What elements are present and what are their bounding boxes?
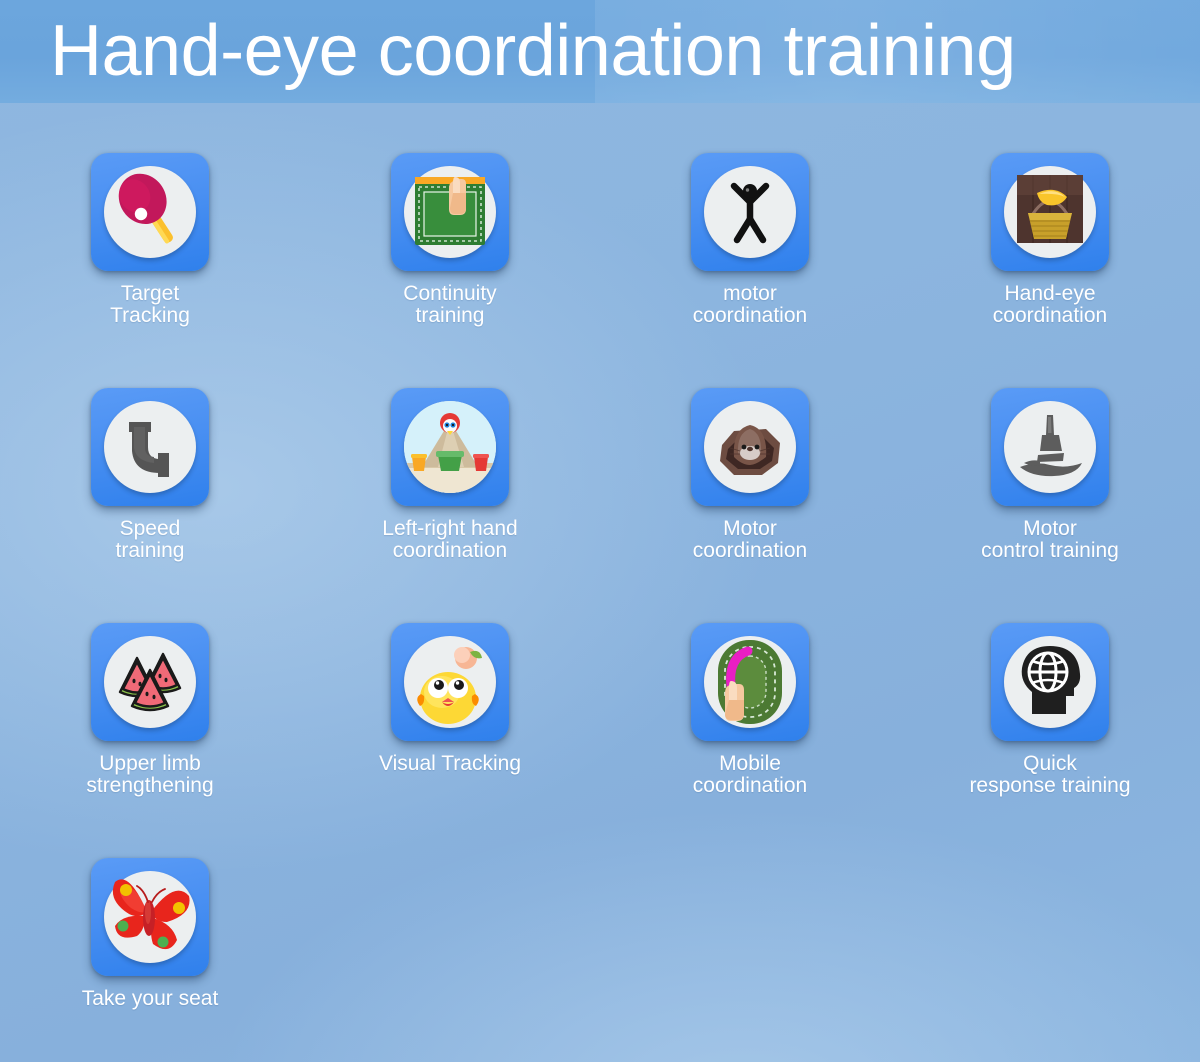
grid-empty-cell: [300, 808, 600, 1043]
app-label: Motor coordination: [602, 518, 898, 561]
app-tile[interactable]: [91, 623, 209, 741]
app-item-mobile-coordination[interactable]: Mobile coordination: [600, 573, 900, 808]
app-item-quick-response-training[interactable]: Quick response training: [900, 573, 1200, 808]
app-item-motor-control-training[interactable]: Motor control training: [900, 338, 1200, 573]
app-label: Mobile coordination: [602, 753, 898, 796]
app-label: motor coordination: [602, 283, 898, 326]
chalkboard-tracing-hand-icon: [409, 169, 491, 253]
app-label: Take your seat: [2, 988, 298, 1010]
watermelon-slices-icon: [104, 636, 196, 728]
oval-maze-finger-icon: [704, 636, 796, 728]
app-item-upper-limb-strengthening[interactable]: Upper limb strengthening: [0, 573, 300, 808]
app-label: Hand-eye coordination: [902, 283, 1198, 326]
app-label: Visual Tracking: [302, 753, 598, 775]
app-tile[interactable]: [991, 153, 1109, 271]
app-tile[interactable]: [691, 623, 809, 741]
pipe-elbow-icon: [104, 401, 196, 493]
ping-pong-paddle-icon: [104, 166, 196, 258]
app-label: Speed training: [2, 518, 298, 561]
basket-banana-icon: [1009, 169, 1091, 253]
bird-on-slide-buckets-icon: [404, 401, 496, 493]
app-label: Quick response training: [902, 753, 1198, 796]
app-item-hand-eye-coordination[interactable]: Hand-eye coordination: [900, 103, 1200, 338]
app-grid: Target Tracking: [0, 103, 1200, 1062]
mole-in-hole-icon: [704, 401, 796, 493]
app-item-motor-coordination-figure[interactable]: motor coordination: [600, 103, 900, 338]
app-tile[interactable]: [91, 153, 209, 271]
app-tile[interactable]: [691, 153, 809, 271]
grid-empty-cell: [900, 808, 1200, 1043]
app-item-take-your-seat[interactable]: Take your seat: [0, 808, 300, 1043]
page-header: Hand-eye coordination training: [0, 0, 1200, 103]
app-tile[interactable]: [991, 623, 1109, 741]
app-label: Upper limb strengthening: [2, 753, 298, 796]
jumping-stick-figure-icon: [704, 166, 796, 258]
app-tile[interactable]: [91, 858, 209, 976]
app-item-left-right-hand-coordination[interactable]: Left-right hand coordination: [300, 338, 600, 573]
chick-watching-peach-icon: [404, 636, 496, 728]
page-title: Hand-eye coordination training: [50, 4, 1180, 99]
app-tile[interactable]: [991, 388, 1109, 506]
paintbrush-stroke-icon: [1004, 401, 1096, 493]
app-label: Target Tracking: [2, 283, 298, 326]
app-tile[interactable]: [391, 388, 509, 506]
app-item-motor-coordination-mole[interactable]: Motor coordination: [600, 338, 900, 573]
app-tile[interactable]: [391, 153, 509, 271]
grid-empty-cell: [600, 808, 900, 1043]
red-butterfly-icon: [97, 862, 203, 970]
app-tile[interactable]: [91, 388, 209, 506]
app-tile[interactable]: [691, 388, 809, 506]
app-label: Left-right hand coordination: [302, 518, 598, 561]
app-item-visual-tracking[interactable]: Visual Tracking: [300, 573, 600, 808]
app-root: Hand-eye coordination training: [0, 0, 1200, 1062]
app-label: Motor control training: [902, 518, 1198, 561]
app-item-speed-training[interactable]: Speed training: [0, 338, 300, 573]
app-tile[interactable]: [391, 623, 509, 741]
app-label: Continuity training: [302, 283, 598, 326]
app-item-target-tracking[interactable]: Target Tracking: [0, 103, 300, 338]
app-item-continuity-training[interactable]: Continuity training: [300, 103, 600, 338]
head-globe-brain-icon: [1004, 636, 1096, 728]
